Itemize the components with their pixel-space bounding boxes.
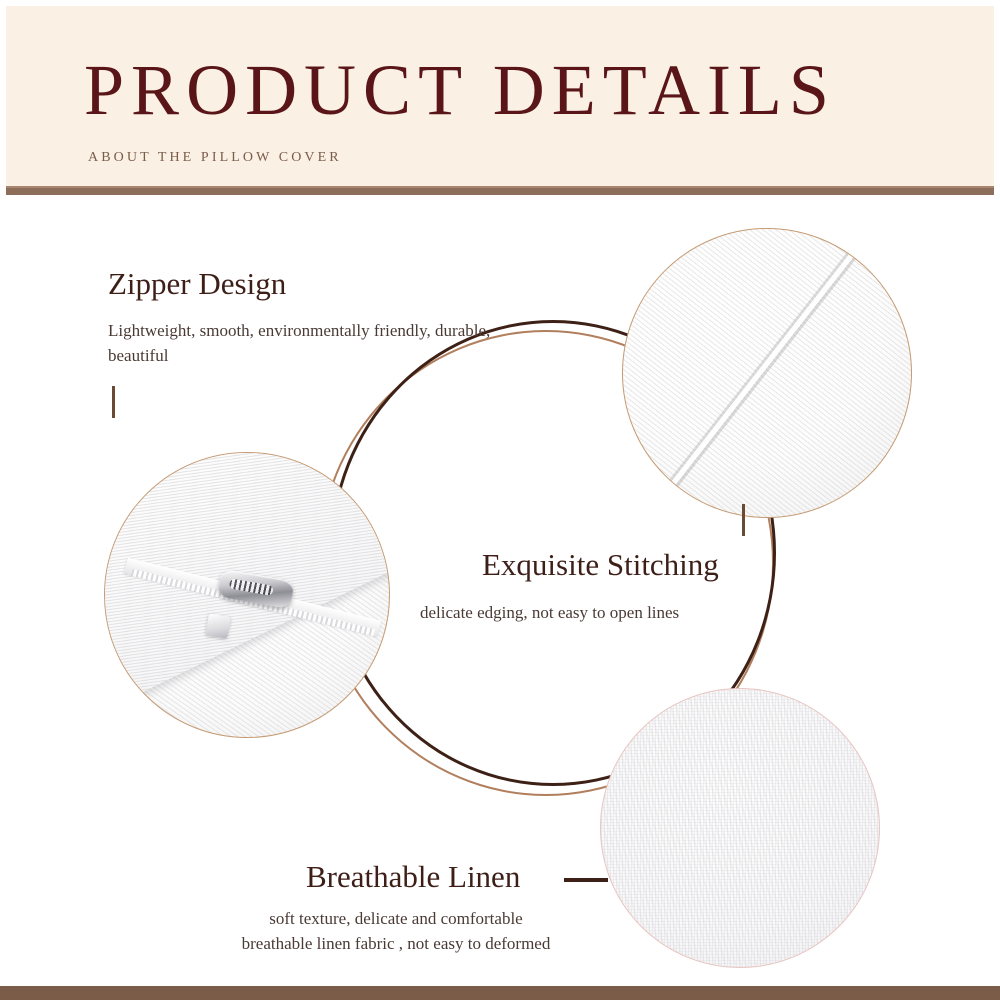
feature-description-zipper: Lightweight, smooth, environmentally fri… bbox=[108, 318, 508, 368]
tick-mark-icon-stitching bbox=[742, 504, 745, 536]
header-divider-highlight bbox=[0, 186, 1000, 188]
frame-edge-left bbox=[0, 0, 6, 1000]
feature-title-stitching: Exquisite Stitching bbox=[482, 546, 719, 584]
tick-mark-icon-zipper bbox=[112, 386, 115, 418]
dash-connector-icon-linen bbox=[564, 878, 608, 882]
feature-description-linen-line1: soft texture, delicate and comfortable bbox=[186, 906, 606, 931]
feature-title-zipper: Zipper Design bbox=[108, 265, 286, 303]
page-title: PRODUCT DETAILS bbox=[84, 48, 934, 132]
feature-description-linen: soft texture, delicate and comfortable b… bbox=[186, 906, 606, 956]
photo-circle-linen bbox=[600, 688, 880, 968]
feature-description-stitching: delicate edging, not easy to open lines bbox=[420, 600, 840, 625]
feature-description-linen-line2: breathable linen fabric , not easy to de… bbox=[186, 931, 606, 956]
frame-edge-bottom bbox=[0, 986, 1000, 1000]
frame-edge-right bbox=[994, 0, 1000, 1000]
photo-circle-stitching bbox=[622, 228, 912, 518]
photo-circle-zipper bbox=[104, 452, 390, 738]
feature-title-linen: Breathable Linen bbox=[306, 858, 520, 896]
zipper-slider-body bbox=[205, 613, 230, 638]
page-subtitle: ABOUT THE PILLOW COVER bbox=[88, 150, 342, 166]
product-details-infographic: PRODUCT DETAILS ABOUT THE PILLOW COVER Z… bbox=[0, 0, 1000, 1000]
